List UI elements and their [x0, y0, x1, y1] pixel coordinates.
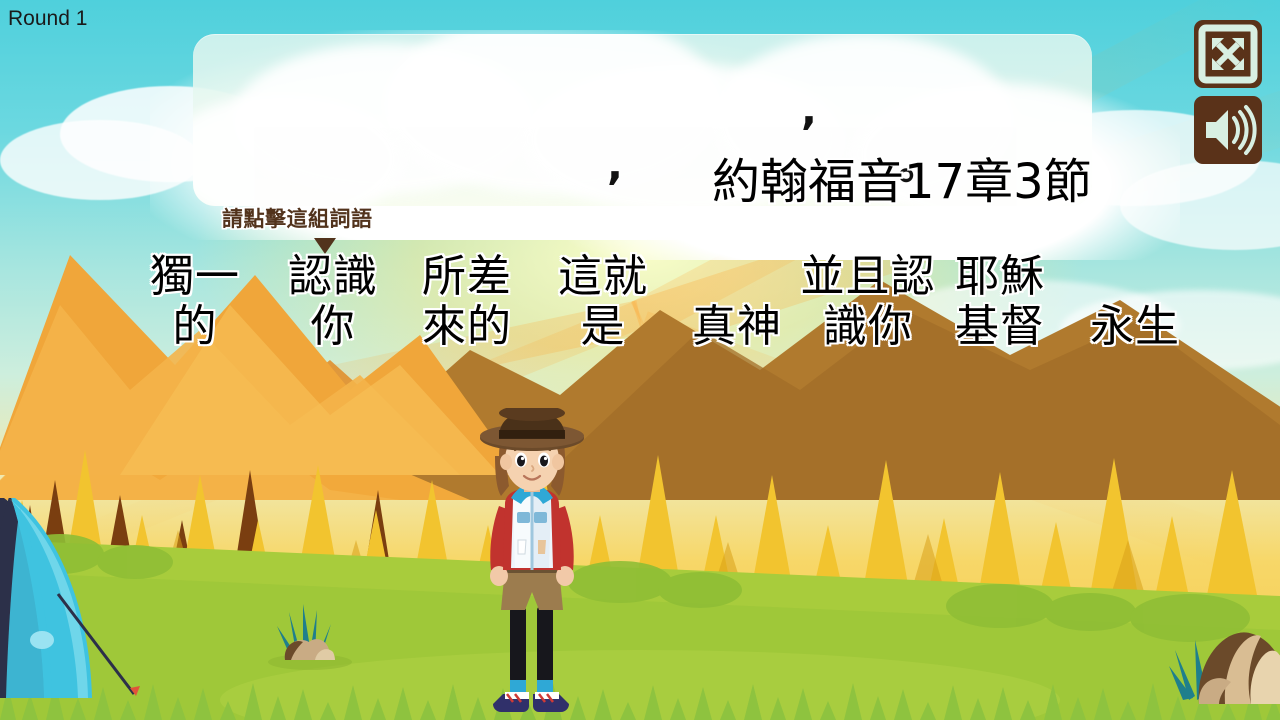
- round-label: Round 1: [8, 7, 87, 31]
- word-tile[interactable]: 這就是: [548, 252, 658, 352]
- verse-punctuation: ,: [801, 89, 817, 131]
- fullscreen-expand-icon: [1194, 20, 1262, 88]
- verse-reference: 約翰福音17章3節: [712, 156, 1092, 208]
- hint-label: 請點擊這組詞語: [222, 203, 373, 233]
- verse-punctuation: ,: [607, 144, 623, 186]
- character-explorer-kid: [455, 408, 605, 720]
- speaker-volume-icon: [1194, 96, 1262, 164]
- tent: [0, 498, 144, 698]
- fullscreen-button[interactable]: [1194, 20, 1262, 88]
- rock-cluster-right: [1165, 600, 1280, 710]
- game-scene: ,,。 約翰福音17章3節 請點擊這組詞語 獨一的認識你所差來的這就是真神並且認…: [0, 0, 1280, 720]
- word-tile[interactable]: 認識你: [278, 252, 388, 352]
- word-tile[interactable]: 所差來的: [412, 252, 522, 352]
- word-tile[interactable]: 獨一的: [140, 252, 250, 352]
- word-bank[interactable]: 獨一的認識你所差來的這就是真神並且認識你耶穌基督永生: [120, 252, 1200, 360]
- word-tile[interactable]: 永生: [1080, 302, 1190, 352]
- rock-cluster-left: [255, 600, 365, 670]
- grass-fringe: [0, 678, 1280, 720]
- word-tile[interactable]: 真神: [682, 302, 792, 352]
- word-tile[interactable]: 並且認識你: [788, 252, 948, 352]
- word-tile[interactable]: 耶穌基督: [940, 252, 1060, 352]
- cloud: [0, 120, 200, 200]
- sound-button[interactable]: [1194, 96, 1262, 164]
